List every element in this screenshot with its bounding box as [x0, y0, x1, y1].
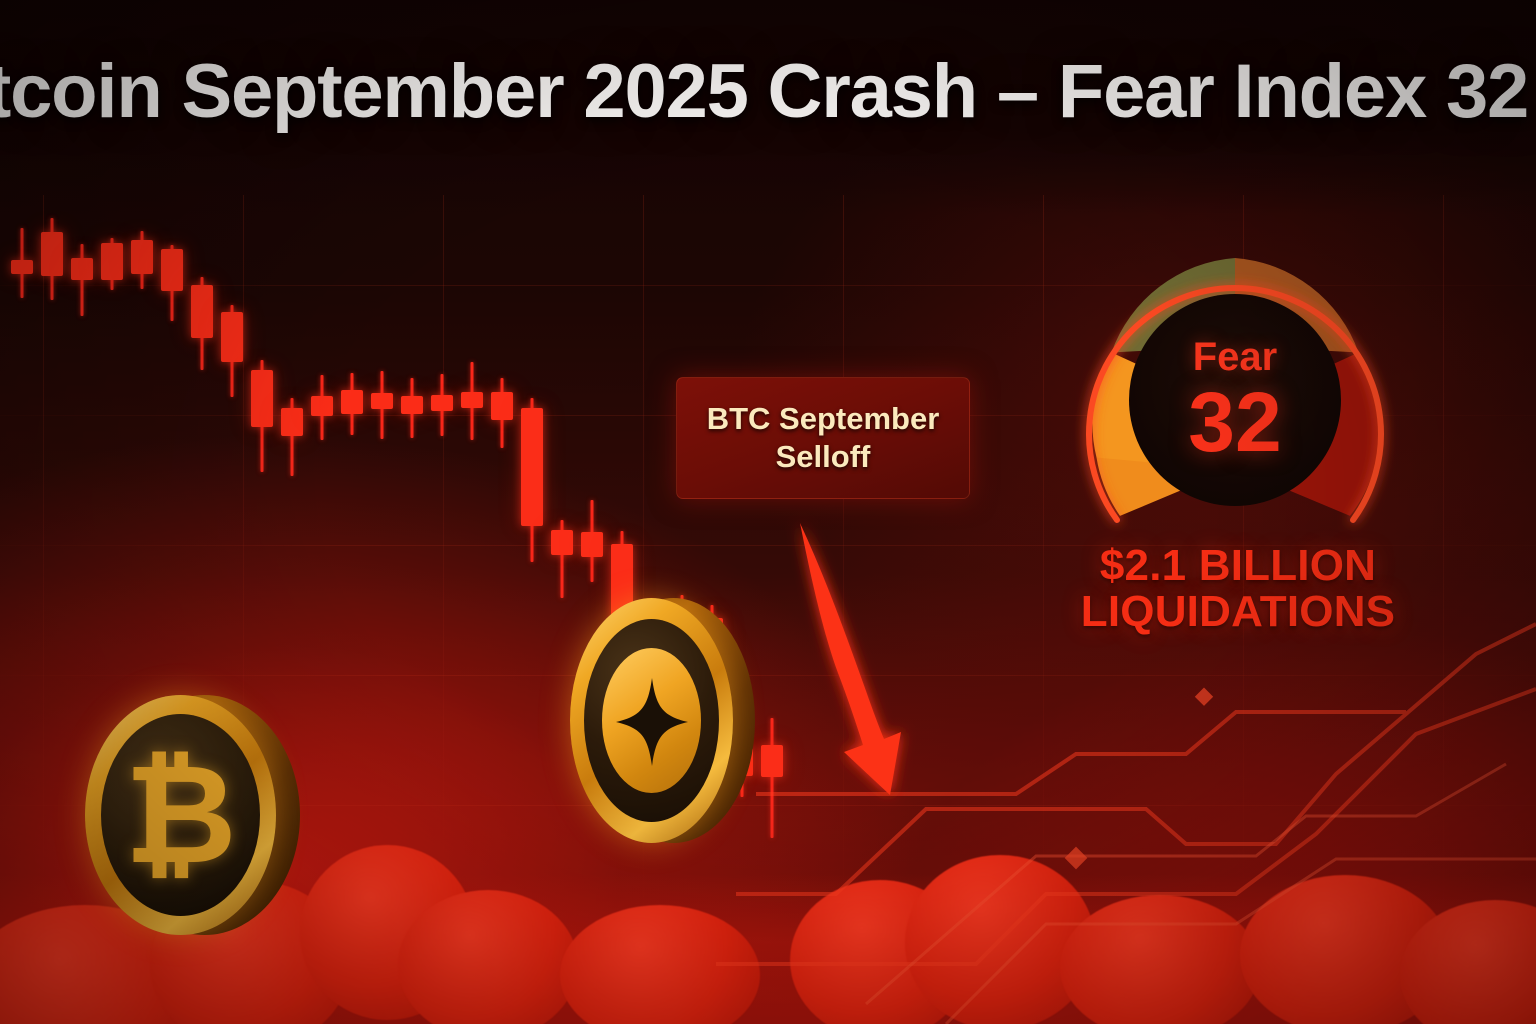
candle-body — [581, 532, 603, 557]
candle-body — [431, 395, 453, 411]
candle-body — [101, 243, 123, 280]
candlestick — [611, 0, 633, 1024]
gauge-value: 32 — [1188, 381, 1281, 463]
candle-wick — [81, 244, 84, 316]
callout-line-1: BTC September — [707, 401, 940, 436]
liquidations-line-1: $2.1 BILLION — [1028, 543, 1448, 589]
candlestick — [41, 0, 63, 1024]
candle-body — [521, 408, 543, 526]
candle-body — [41, 232, 63, 276]
candle-body — [221, 312, 243, 362]
candle-body — [551, 530, 573, 555]
candle-body — [461, 392, 483, 408]
candle-body — [191, 285, 213, 338]
star-coin — [570, 598, 755, 843]
gauge-center-readout: Fear 32 — [1129, 294, 1341, 506]
down-arrow-icon — [770, 495, 990, 835]
candle-body — [491, 392, 513, 420]
candlestick — [11, 0, 33, 1024]
candlestick — [671, 0, 693, 1024]
bitcoin-symbol-icon: ₿ — [85, 695, 276, 935]
candle-body — [401, 396, 423, 414]
bitcoin-coin: ₿ — [85, 695, 300, 935]
candlestick — [491, 0, 513, 1024]
callout-line-2: Selloff — [776, 439, 871, 474]
candle-body — [281, 408, 303, 436]
gauge-label: Fear — [1193, 337, 1278, 377]
candlestick — [521, 0, 543, 1024]
candle-body — [161, 249, 183, 291]
thumbnail-canvas: ₿ BTC SeptemberSelloff — [0, 0, 1536, 1024]
candlestick — [641, 0, 663, 1024]
candlestick — [551, 0, 573, 1024]
candle-body — [251, 370, 273, 427]
callout-label-text: BTC SeptemberSelloff — [707, 400, 940, 476]
candle-body — [71, 258, 93, 280]
candle-body — [311, 396, 333, 416]
callout-label-box[interactable]: BTC SeptemberSelloff — [676, 377, 970, 499]
page-title: tcoin September 2025 Crash – Fear Index … — [0, 52, 1536, 132]
candle-body — [11, 260, 33, 274]
four-point-star-icon — [614, 676, 690, 768]
liquidations-line-2: LIQUIDATIONS — [1028, 589, 1448, 635]
candlestick — [461, 0, 483, 1024]
candlestick — [581, 0, 603, 1024]
candle-body — [371, 393, 393, 409]
fear-greed-gauge: Fear 32 — [1070, 235, 1400, 565]
candle-body — [131, 240, 153, 274]
liquidations-callout: $2.1 BILLION LIQUIDATIONS — [1028, 543, 1448, 635]
candle-body — [341, 390, 363, 414]
